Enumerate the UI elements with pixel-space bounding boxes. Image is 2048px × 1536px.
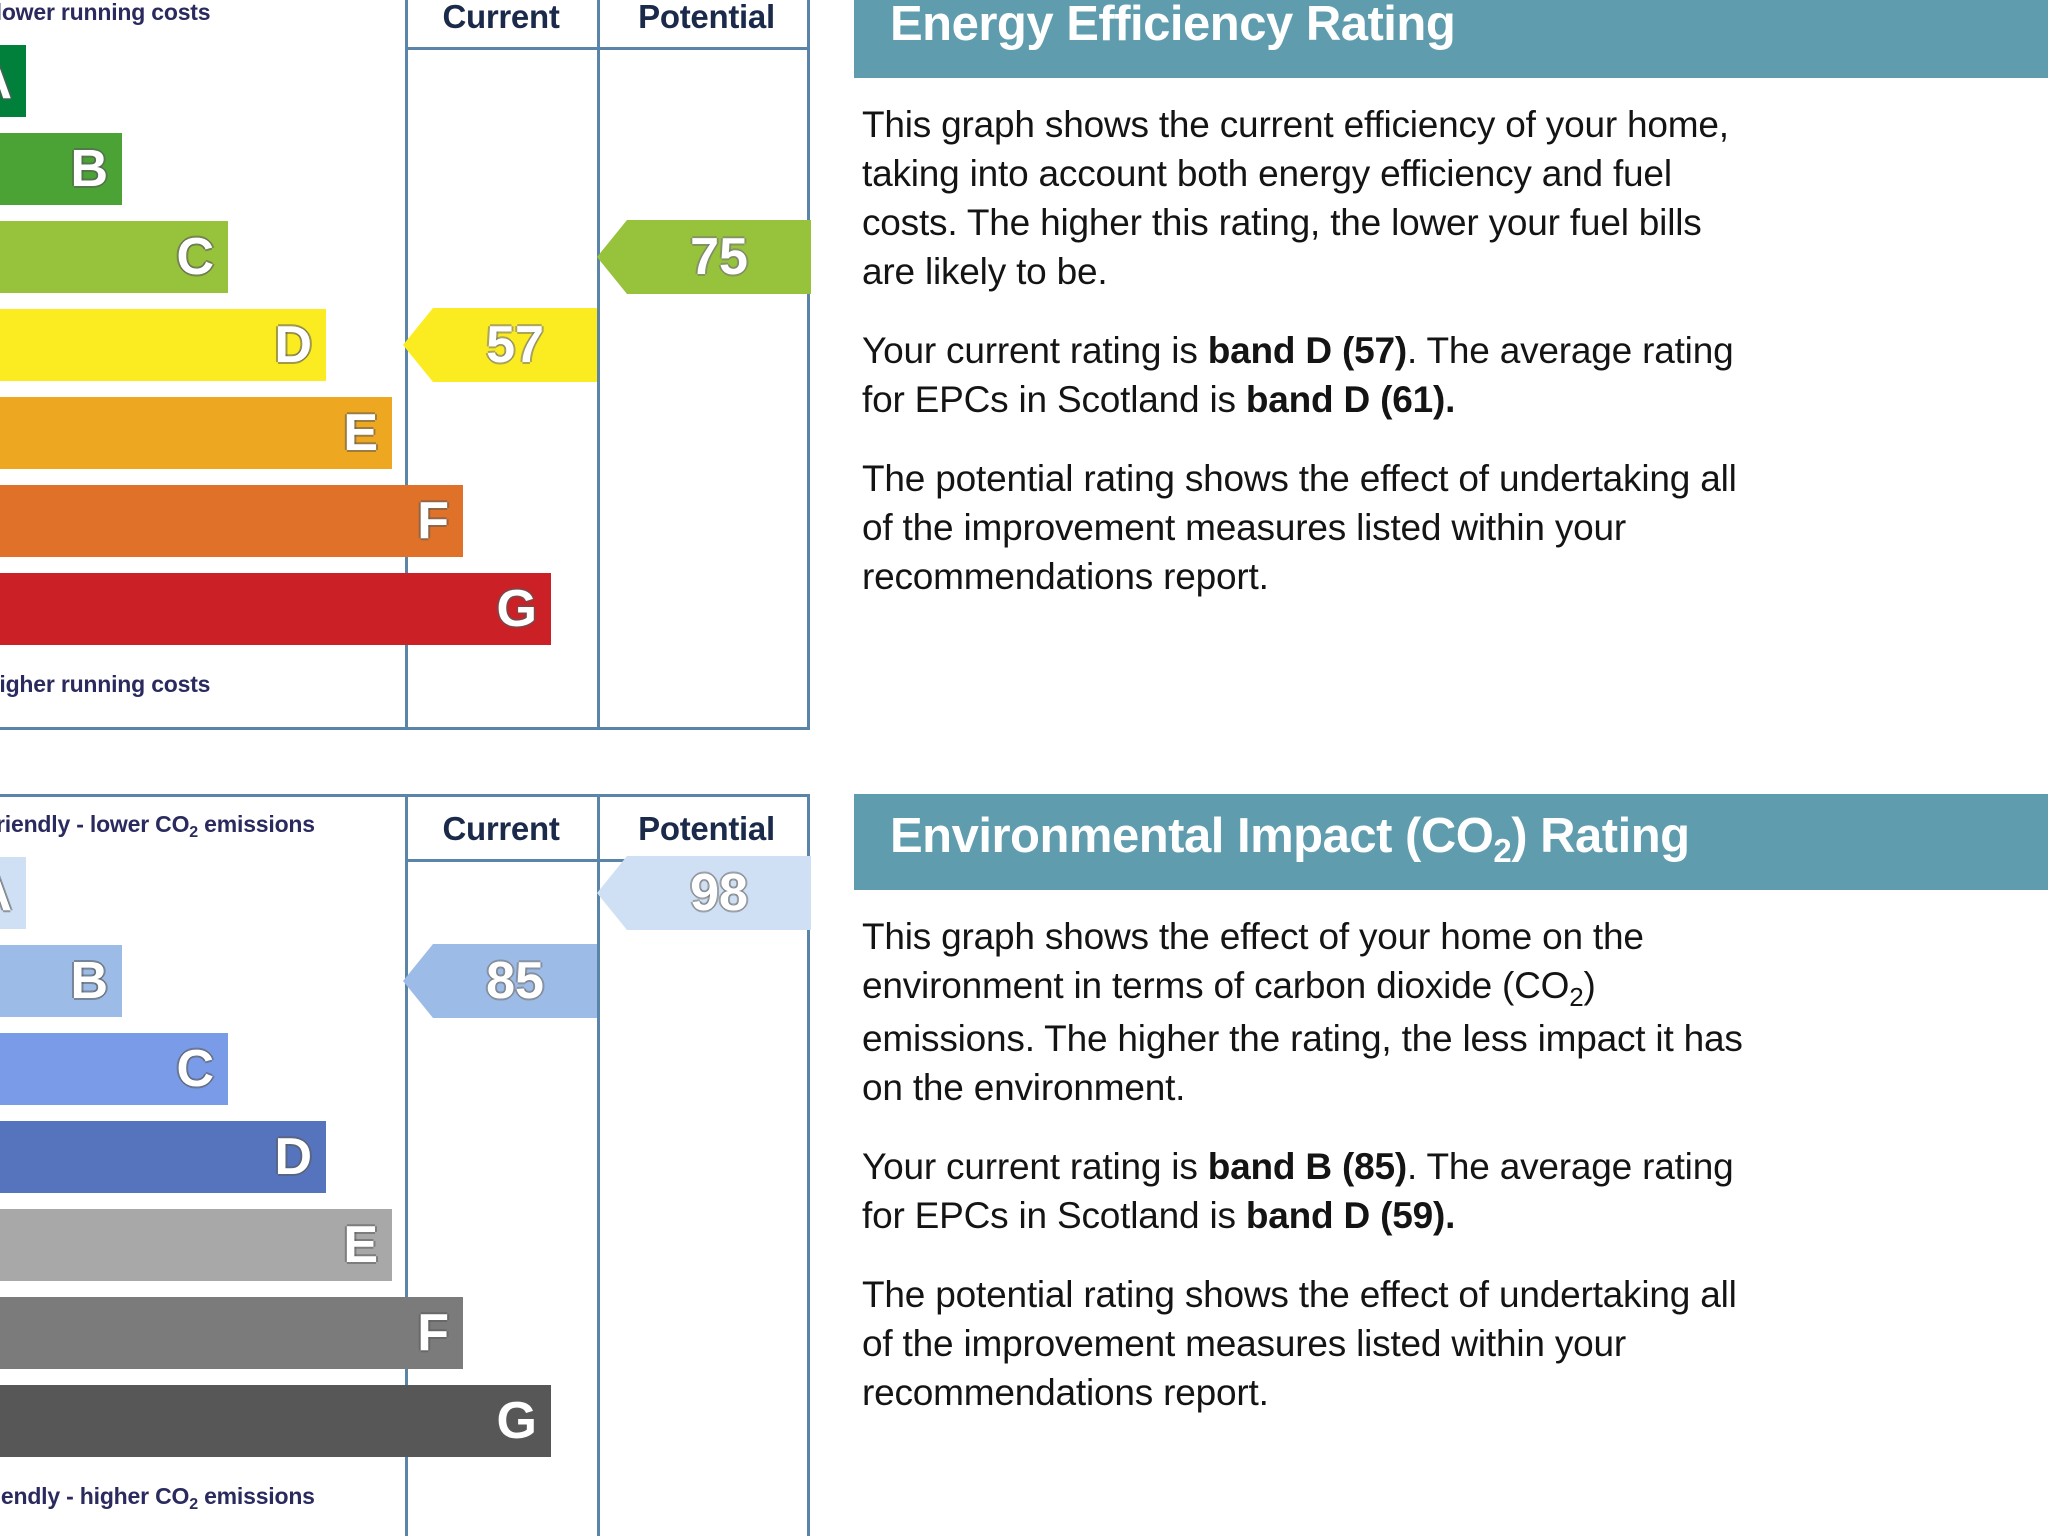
band-bar-a: A: [0, 45, 26, 117]
band-bars-energy-efficiency: ABCDEFG: [0, 45, 405, 665]
scale-caption-top: Very environmentally friendly - lower CO…: [0, 811, 315, 838]
panel-paragraph: The potential rating shows the effect of…: [862, 454, 2048, 601]
scale-caption-top: Very energy efficient - lower running co…: [0, 0, 210, 26]
panel-title-environmental-impact: Environmental Impact (CO2) Rating: [854, 794, 2048, 890]
band-bar-f: F: [0, 1297, 463, 1369]
band-bar-e: E: [0, 1209, 392, 1281]
panel-paragraph: This graph shows the current efficiency …: [862, 100, 2048, 296]
band-bar-a: A: [0, 857, 26, 929]
band-bar-f: F: [0, 485, 463, 557]
epc-section-energy-efficiency: CurrentPotentialVery energy efficient - …: [0, 0, 2048, 742]
rating-pointer-potential: 98: [597, 856, 811, 930]
rating-pointer-current: 57: [403, 308, 597, 382]
column-header-current: Current: [405, 806, 597, 852]
band-bar-d: D: [0, 1121, 326, 1193]
scale-caption-bottom: Not energy efficient - higher running co…: [0, 671, 210, 698]
column-header-divider: [405, 47, 807, 50]
column-divider-potential: [597, 797, 600, 1536]
column-header-potential: Potential: [600, 0, 813, 40]
panel-body-environmental-impact: This graph shows the effect of your home…: [854, 890, 2048, 1417]
scale-caption-bottom: Not environmentally friendly - higher CO…: [0, 1483, 315, 1510]
epc-section-environmental-impact: CurrentPotentialVery environmentally fri…: [0, 794, 2048, 1536]
rating-chart-environmental-impact: CurrentPotentialVery environmentally fri…: [0, 794, 810, 1536]
column-divider-potential: [597, 0, 600, 727]
info-panel-energy-efficiency: Energy Efficiency RatingThis graph shows…: [854, 0, 2048, 601]
info-panel-environmental-impact: Environmental Impact (CO2) RatingThis gr…: [854, 794, 2048, 1417]
band-bar-c: C: [0, 221, 228, 293]
epc-document: CurrentPotentialVery energy efficient - …: [0, 0, 2048, 1536]
panel-paragraph: This graph shows the effect of your home…: [862, 912, 2048, 1112]
band-bar-e: E: [0, 397, 392, 469]
panel-paragraph: The potential rating shows the effect of…: [862, 1270, 2048, 1417]
band-bar-c: C: [0, 1033, 228, 1105]
band-bar-g: G: [0, 1385, 551, 1457]
column-header-current: Current: [405, 0, 597, 40]
panel-paragraph: Your current rating is band B (85). The …: [862, 1142, 2048, 1240]
band-bar-b: B: [0, 945, 122, 1017]
rating-pointer-potential: 75: [597, 220, 811, 294]
rating-pointer-current: 85: [403, 944, 597, 1018]
band-bar-d: D: [0, 309, 326, 381]
band-bar-b: B: [0, 133, 122, 205]
rating-chart-energy-efficiency: CurrentPotentialVery energy efficient - …: [0, 0, 810, 730]
column-header-potential: Potential: [600, 806, 813, 852]
panel-title-energy-efficiency: Energy Efficiency Rating: [854, 0, 2048, 78]
band-bars-environmental-impact: ABCDEFG: [0, 857, 405, 1477]
panel-body-energy-efficiency: This graph shows the current efficiency …: [854, 78, 2048, 601]
screenshot-viewport: CurrentPotentialVery energy efficient - …: [0, 0, 2048, 1536]
band-bar-g: G: [0, 573, 551, 645]
panel-paragraph: Your current rating is band D (57). The …: [862, 326, 2048, 424]
